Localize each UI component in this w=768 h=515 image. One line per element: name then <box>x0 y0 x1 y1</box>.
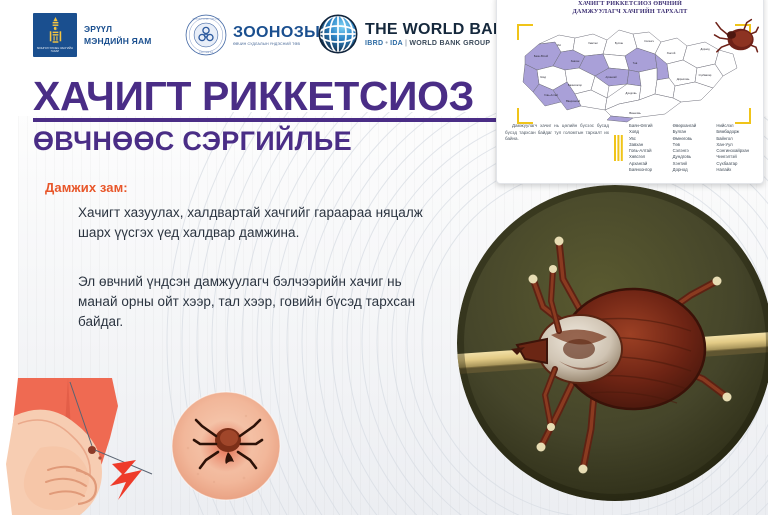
soyombo-emblem-icon: МОНГОЛ УЛСЫН ЗАСГИЙН ГАЗАР <box>33 13 77 57</box>
page-subtitle: ӨВЧНӨӨС СЭРГИЙЛЬЕ <box>33 126 553 156</box>
svg-text:Хэнтий: Хэнтий <box>667 51 676 55</box>
svg-text:Говь-Алтай: Говь-Алтай <box>544 93 558 97</box>
svg-text:Булган: Булган <box>615 41 624 45</box>
svg-text:Архангай: Архангай <box>605 75 617 79</box>
legend-swatch-bars <box>613 123 625 173</box>
transmission-paragraph-2: Эл өвчний үндсэн дамжуулагч бэлчээрийн х… <box>78 272 428 332</box>
svg-text:ЗООНОЗЫН ӨВЧИН СУДЛАЛЫН: ЗООНОЗЫН ӨВЧИН СУДЛАЛЫН <box>192 18 220 21</box>
globe-icon <box>318 14 358 54</box>
ministry-of-health-name: ЭРҮҮЛ МЭНДИЙН ЯАМ <box>84 23 152 47</box>
world-bank-dot-separator: • <box>385 40 388 47</box>
pain-bolt-icon <box>110 460 142 500</box>
poster-title-block: ХАЧИГТ РИККЕТСИОЗ ӨВЧНӨӨС СЭРГИЙЛЬЕ <box>33 75 553 156</box>
soyombo-glyph-icon <box>48 17 63 47</box>
svg-text:Өвөрхангай: Өвөрхангай <box>566 99 581 103</box>
transmission-paragraph-1: Хачигт хазуулах, халдвартай хачгийг гара… <box>78 203 428 243</box>
arm-scratching-illustration <box>0 378 300 515</box>
biohazard-seal-icon: ЗООНОЗЫН ӨВЧИН СУДЛАЛЫН ҮНДЭСНИЙ ТӨВ <box>185 14 227 56</box>
poster-root: МОНГОЛ УЛСЫН ЗАСГИЙН ГАЗАР ЭРҮҮЛ МЭНДИЙН… <box>0 0 768 515</box>
map-legend-province-columns: Баян-ӨлгийХовдУвсЗавханГовь-АлтайХөвсгөл… <box>629 123 757 173</box>
map-title-line2: ДАМЖУУЛАГЧ ХАЧГИЙН ТАРХАЛТ <box>497 8 763 16</box>
svg-text:Баянхонгор: Баянхонгор <box>568 83 582 87</box>
map-area: Баян-Өлгий Увс Ховд Завхан Хөвсгөл Говь-… <box>497 16 764 128</box>
svg-text:ҮНДЭСНИЙ ТӨВ: ҮНДЭСНИЙ ТӨВ <box>199 51 214 54</box>
svg-text:Сэлэнгэ: Сэлэнгэ <box>644 39 654 43</box>
ministry-name-line1: ЭРҮҮЛ <box>84 23 152 35</box>
tick-photo <box>455 183 768 503</box>
page-title: ХАЧИГТ РИККЕТСИОЗ <box>33 75 553 117</box>
world-bank-bar-separator: | <box>405 40 407 47</box>
map-title-line1: ХАЧИГТ РИККЕТСИОЗ ӨВЧНИЙ <box>497 0 763 8</box>
svg-text:Өмнөговь: Өмнөговь <box>629 111 641 115</box>
map-title: ХАЧИГТ РИККЕТСИОЗ ӨВЧНИЙ ДАМЖУУЛАГЧ ХАЧГ… <box>497 0 763 16</box>
transmission-section-heading: Дамжих зам: <box>45 180 128 195</box>
legend-province-item: Дорнод <box>673 167 714 173</box>
zoonoses-center-logo: ЗООНОЗЫН ӨВЧИН СУДЛАЛЫН ҮНДЭСНИЙ ТӨВ ЗОО… <box>185 14 332 56</box>
world-bank-name: THE WORLD BANK <box>365 21 517 38</box>
world-bank-ibrd: IBRD <box>365 40 383 47</box>
svg-text:Дорнод: Дорнод <box>700 47 709 51</box>
world-bank-logo: THE WORLD BANK IBRD•IDA|WORLD BANK GROUP <box>318 14 517 54</box>
world-bank-ida: IDA <box>390 40 403 47</box>
map-legend-note: Дамжуулагч хачиг нь цөлийн бүсээс бусад … <box>505 123 609 173</box>
distribution-map-card: ХАЧИГТ РИККЕТСИОЗ ӨВЧНИЙ ДАМЖУУЛАГЧ ХАЧГ… <box>496 0 764 184</box>
svg-text:Сүхбаатар: Сүхбаатар <box>699 73 712 77</box>
ministry-of-health-logo: МОНГОЛ УЛСЫН ЗАСГИЙН ГАЗАР ЭРҮҮЛ МЭНДИЙН… <box>33 13 152 57</box>
legend-column-3: НийслэлБямбадоржБайнголХан-УулСонгинохай… <box>716 123 757 173</box>
svg-text:Хөвсгөл: Хөвсгөл <box>588 41 598 45</box>
ministry-emblem-caption: МОНГОЛ УЛСЫН ЗАСГИЙН ГАЗАР <box>34 47 76 54</box>
legend-province-item: Налайх <box>716 167 757 173</box>
world-bank-group: WORLD BANK GROUP <box>409 40 490 47</box>
tick-silhouette-icon <box>713 18 759 58</box>
svg-text:Дундговь: Дундговь <box>625 91 637 95</box>
world-bank-wordmark: THE WORLD BANK IBRD•IDA|WORLD BANK GROUP <box>365 21 517 48</box>
map-legend: Дамжуулагч хачиг нь цөлийн бүсээс бусад … <box>497 123 764 173</box>
world-bank-tagline: IBRD•IDA|WORLD BANK GROUP <box>365 39 517 48</box>
legend-column-1: Баян-ӨлгийХовдУвсЗавханГовь-АлтайХөвсгөл… <box>629 123 670 173</box>
svg-text:Ховд: Ховд <box>540 75 546 79</box>
legend-province-item: Баянхонгор <box>629 167 670 173</box>
svg-text:Төв: Төв <box>633 61 638 65</box>
svg-text:Дорноговь: Дорноговь <box>677 77 690 81</box>
ministry-name-line2: МЭНДИЙН ЯАМ <box>84 35 152 47</box>
legend-column-2: ӨвөрхангайБулганӨмнөговьТөвСэлэнгэДундго… <box>673 123 714 173</box>
svg-text:Завхан: Завхан <box>571 59 580 63</box>
svg-text:Увс: Увс <box>557 43 562 47</box>
svg-text:Баян-Өлгий: Баян-Өлгий <box>534 54 549 58</box>
